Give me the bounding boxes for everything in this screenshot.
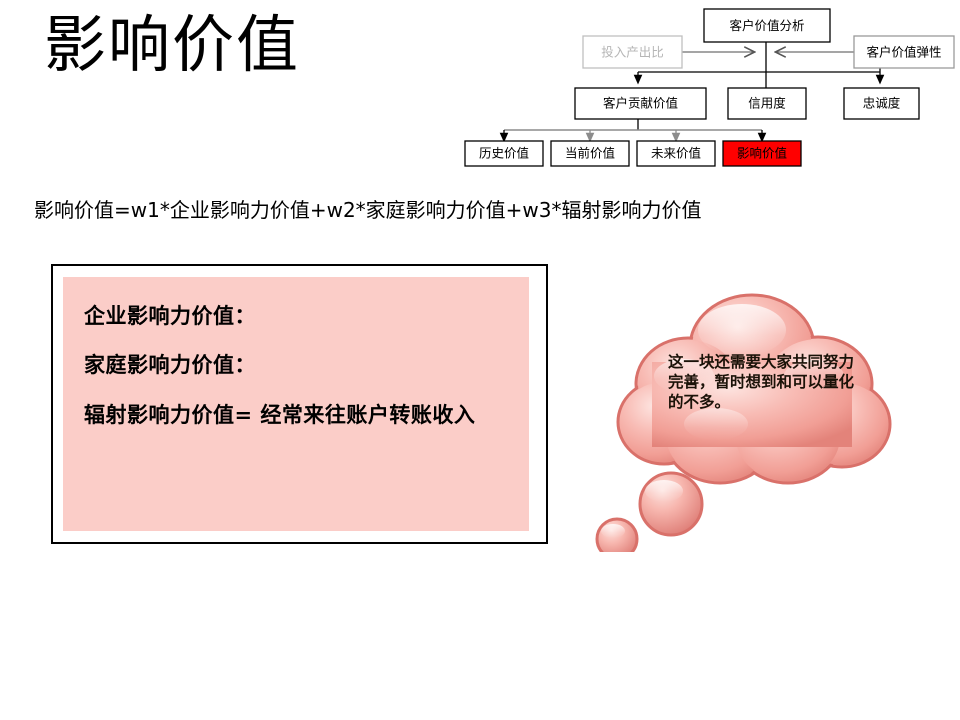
diagram-node-credit-label: 信用度 [748,96,786,111]
diagram-node-input-output-ratio-label: 投入产出比 [601,45,664,60]
pink-panel: 企业影响力价值： 家庭影响力价值： 辐射影响力价值= 经常来往账户转账收入 [63,277,529,531]
cloud-bubble-large [640,473,702,535]
diagram-node-loyalty-label: 忠诚度 [863,96,901,111]
content-line-radiation: 辐射影响力价值= 经常来往账户转账收入 [84,399,475,429]
diagram-node-influence-value-label: 影响价值 [737,146,787,161]
diagram-node-credit[interactable]: 信用度 [728,88,806,119]
diagram-node-contribution-value-label: 客户贡献价值 [603,96,678,111]
cloud-text: 这一块还需要大家共同努力完善，暂时想到和可以量化的不多。 [668,352,868,412]
content-frame: 企业影响力价值： 家庭影响力价值： 辐射影响力价值= 经常来往账户转账收入 [51,264,548,544]
diagram-node-influence-value-highlight[interactable]: 影响价值 [723,141,801,166]
diagram-node-current-value-label: 当前价值 [565,146,615,161]
diagram-node-future-value[interactable]: 未来价值 [637,141,715,166]
diagram-node-future-value-label: 未来价值 [651,146,701,161]
diagram-node-historic-value-label: 历史价值 [479,146,529,161]
slide-canvas: 影响价值 [0,0,960,720]
diagram-node-value-elasticity-label: 客户价值弹性 [866,45,941,60]
diagram-node-contribution-value[interactable]: 客户贡献价值 [575,88,706,119]
content-line-family: 家庭影响力价值： [84,349,256,379]
diagram-node-root-label: 客户价值分析 [729,18,804,33]
content-line-enterprise: 企业影响力价值： [84,300,256,330]
cloud-bubble-small [597,519,637,552]
diagram-node-current-value[interactable]: 当前价值 [551,141,629,166]
diagram-node-loyalty[interactable]: 忠诚度 [844,88,919,119]
diagram-node-input-output-ratio[interactable]: 投入产出比 [583,36,682,68]
page-title: 影响价值 [44,12,300,77]
diagram-node-root[interactable]: 客户价值分析 [704,9,830,42]
customer-value-flowchart: 客户价值分析 投入产出比 客户价值弹性 客户贡献价值 信用度 [440,0,960,180]
diagram-node-historic-value[interactable]: 历史价值 [465,141,543,166]
thought-cloud-callout [592,272,912,552]
formula-text: 影响价值=w1*企业影响力价值+w2*家庭影响力价值+w3*辐射影响力价值 [34,198,702,222]
diagram-node-value-elasticity[interactable]: 客户价值弹性 [854,36,954,68]
